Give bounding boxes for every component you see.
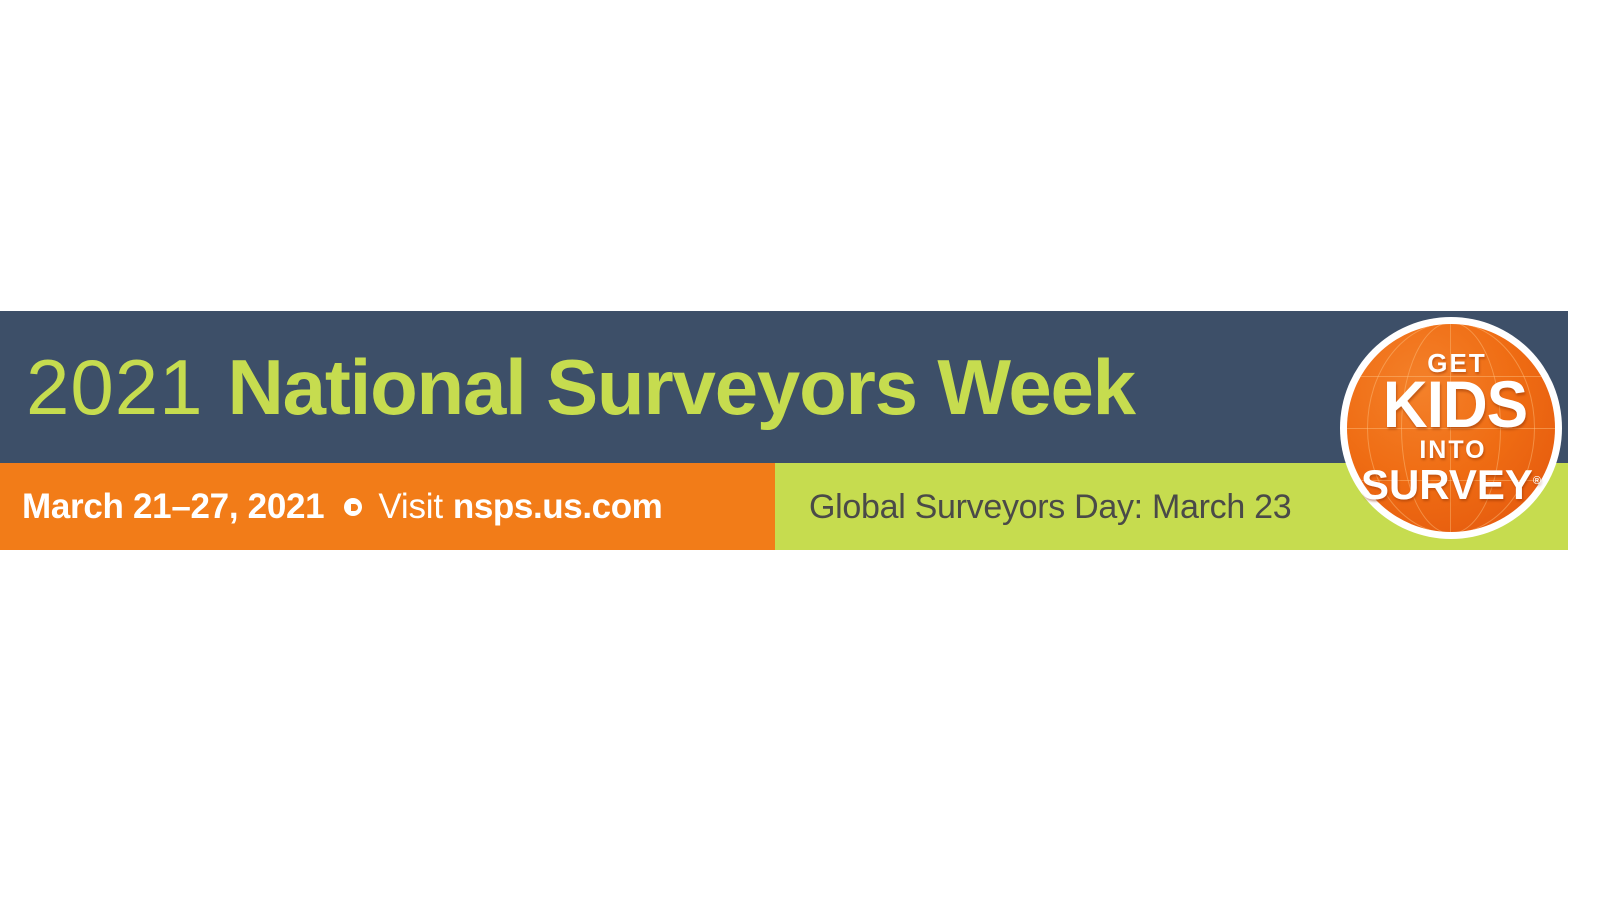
badge-text-block: GET KIDS INTO SURVEY® — [1340, 317, 1562, 539]
badge-line-survey: SURVEY® — [1361, 464, 1541, 506]
banner-year: 2021 — [26, 348, 204, 426]
get-kids-into-survey-badge[interactable]: GET KIDS INTO SURVEY® — [1340, 317, 1562, 539]
banner-visit-label: Visit — [378, 487, 443, 527]
banner-date-strip: March 21–27, 2021 Visit nsps.us.com — [0, 463, 775, 550]
badge-registered-mark: ® — [1533, 475, 1541, 487]
badge-line-into: INTO — [1419, 438, 1486, 463]
banner-dates: March 21–27, 2021 — [22, 489, 324, 524]
survey-marker-notch — [351, 504, 358, 511]
banner-headline: 2021 National Surveyors Week — [26, 311, 1135, 463]
survey-marker-icon — [344, 498, 362, 516]
page-canvas: 2021 National Surveyors Week March 21–27… — [0, 0, 1600, 900]
global-surveyors-day-note: Global Surveyors Day: March 23 — [809, 490, 1291, 524]
badge-line-kids: KIDS — [1383, 375, 1527, 437]
national-surveyors-week-banner[interactable]: 2021 National Surveyors Week March 21–27… — [0, 311, 1568, 550]
banner-website-link[interactable]: nsps.us.com — [453, 487, 663, 527]
badge-survey-word: SURVEY — [1361, 461, 1533, 508]
banner-bottom-band: March 21–27, 2021 Visit nsps.us.com Glob… — [0, 463, 1568, 550]
banner-title: National Surveyors Week — [228, 348, 1135, 426]
